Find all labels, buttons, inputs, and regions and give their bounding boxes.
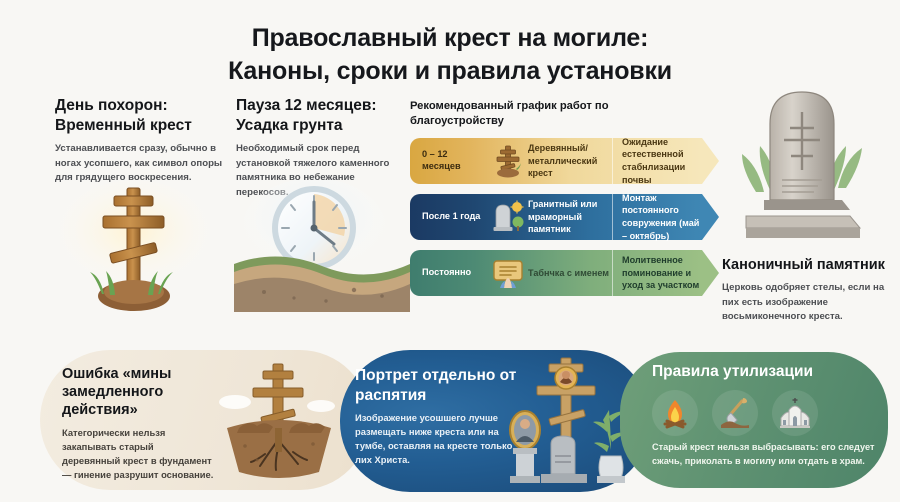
timeline-middle-label: Табнчка с именем — [528, 250, 612, 296]
col4-body: Церковь одобряет стелы, если на пих есть… — [722, 281, 890, 325]
section-temporary-cross: День похорон: Временный крест Устанавлив… — [55, 96, 227, 186]
wooden-orthodox-cross-in-mound-icon — [48, 178, 228, 313]
granite-headstone-icon — [740, 84, 872, 256]
timeline-end-label: Ожидание естественной стабнлизации почвы — [612, 138, 702, 184]
infographic-page: Православный крест на могиле: Каноны, ср… — [0, 0, 900, 502]
wooden-cross-icon — [488, 138, 528, 184]
timeline-row-2: Постоянно Табнчка с именем Молитвенное п… — [410, 250, 702, 296]
timeline-end-label: Монтаж постоянного совружения (май – окт… — [612, 194, 702, 240]
timeline-row-1: После 1 года Гранитный или мраморный пам… — [410, 194, 702, 240]
card-beige-title: Ошибка «мины замедленного действия» — [62, 366, 214, 420]
card-green-title: Правила утилизации — [652, 362, 872, 382]
card-green-body-wrap: Старый крест нельзя выбрасывать: его сле… — [652, 441, 877, 469]
card-green-body: Старый крест нельзя выбрасывать: его сле… — [652, 441, 877, 469]
card-green-icon-row — [652, 390, 852, 436]
timeline-end-label: Молитвенное поминование и уход за участк… — [612, 250, 702, 296]
section-canonical-monument: Каноничный памятник Церковь одобряет сте… — [722, 256, 890, 325]
col1-heading: День похорон: Временный крест — [55, 96, 227, 135]
timeline-middle-label: Гранитный или мраморный памятник — [528, 194, 612, 240]
clock-over-soil-layers-icon — [234, 180, 410, 312]
headstone-icon — [488, 194, 528, 240]
timeline-badge: Постоянно — [410, 250, 488, 296]
schedule-heading: Рекомендованный график работ по благоуст… — [410, 99, 660, 130]
card-green-title-wrap: Правила утилизации — [652, 362, 872, 382]
shovel-icon — [712, 390, 758, 436]
timeline-middle-label: Деревянный/ металлический крест — [528, 138, 612, 184]
col4-heading: Каноничный памятник — [722, 256, 890, 274]
col2-heading: Пауза 12 месяцев: Усадка грунта — [236, 96, 404, 135]
card-beige-body: Категорически нельзя закапывать старый д… — [62, 426, 214, 482]
timeline-badge: 0 – 12 месяцев — [410, 138, 488, 184]
timeline-badge: После 1 года — [410, 194, 488, 240]
title-line-1: Православный крест на могиле: — [0, 22, 900, 55]
card-beige-text: Ошибка «мины замедленного действия» Кате… — [62, 366, 214, 482]
fire-icon — [652, 390, 698, 436]
timeline-row-0: 0 – 12 месяцев Деревянный/ металлический… — [410, 138, 702, 184]
name-plaque-icon — [488, 250, 528, 296]
page-title: Православный крест на могиле: Каноны, ср… — [0, 22, 900, 88]
church-icon — [772, 390, 818, 436]
cross-buried-in-foundation-icon — [205, 358, 353, 486]
